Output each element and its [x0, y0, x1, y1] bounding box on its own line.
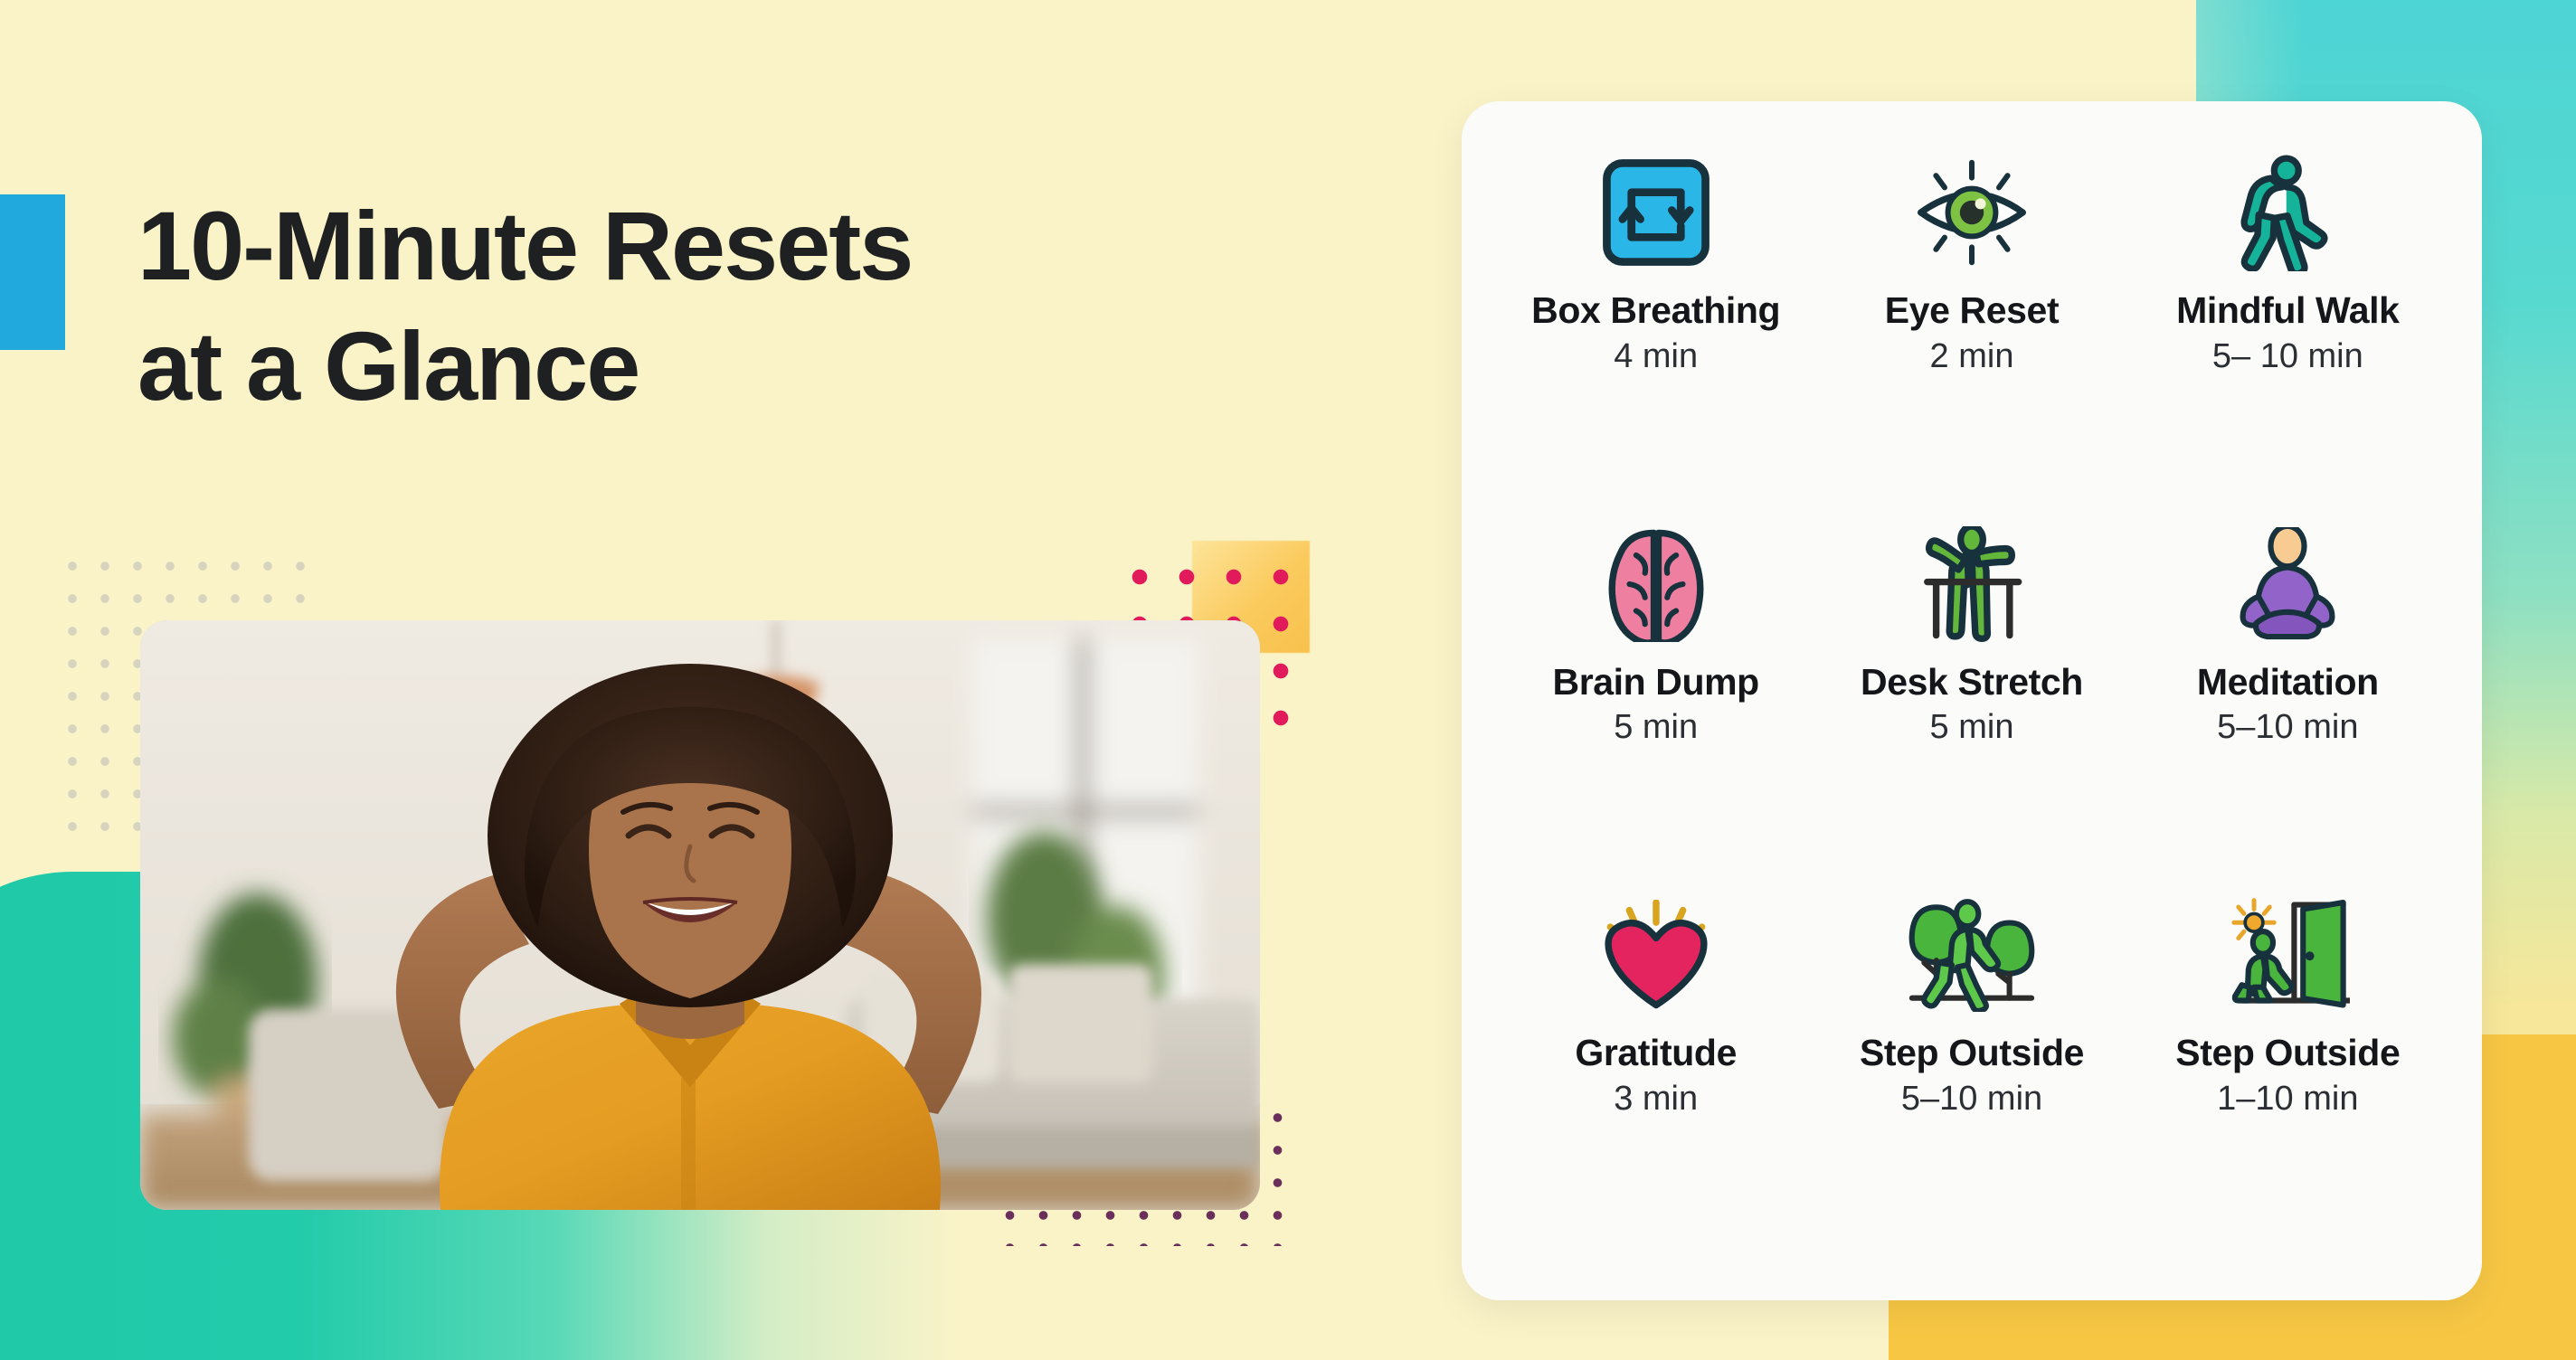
reset-label: Step Outside	[2175, 1032, 2400, 1074]
reset-item-step-outside-door[interactable]: Step Outside 1–10 min	[2130, 892, 2446, 1264]
reset-item-eye-reset[interactable]: Eye Reset 2 min	[1814, 150, 2129, 522]
reset-duration: 5–10 min	[1901, 1080, 2042, 1119]
reset-item-step-outside-trees[interactable]: Step Outside 5–10 min	[1814, 892, 2129, 1264]
desk-stretch-icon	[1821, 522, 2122, 647]
reset-label: Gratitude	[1575, 1032, 1737, 1074]
meditation-icon	[2137, 522, 2439, 647]
reset-label: Step Outside	[1860, 1032, 2084, 1074]
reset-label: Box Breathing	[1531, 289, 1780, 332]
reset-duration: 1–10 min	[2217, 1080, 2358, 1119]
reset-duration: 2 min	[1930, 337, 2014, 376]
page-title-line-2: at a Glance	[137, 307, 1422, 427]
reset-grid: Box Breathing 4 min	[1498, 150, 2446, 1264]
page-title-line-1: 10-Minute Resets	[137, 191, 912, 300]
reset-item-mindful-walk[interactable]: Mindful Walk 5– 10 min	[2130, 150, 2446, 522]
reset-item-gratitude[interactable]: Gratitude 3 min	[1498, 892, 1814, 1264]
reset-label: Desk Stretch	[1861, 661, 2083, 704]
eye-reset-icon	[1821, 150, 2122, 275]
step-outside-door-icon	[2137, 892, 2439, 1017]
reset-label: Meditation	[2197, 661, 2379, 704]
reset-item-desk-stretch[interactable]: Desk Stretch 5 min	[1814, 522, 2129, 893]
blue-accent-tab	[0, 194, 65, 350]
reset-duration: 5– 10 min	[2212, 337, 2363, 376]
reset-label: Eye Reset	[1885, 289, 2059, 332]
reset-duration: 4 min	[1614, 337, 1698, 376]
reset-card: Box Breathing 4 min	[1462, 101, 2482, 1300]
reset-label: Mindful Walk	[2176, 289, 2400, 332]
reset-item-box-breathing[interactable]: Box Breathing 4 min	[1498, 150, 1814, 522]
brain-dump-icon	[1505, 522, 1806, 647]
page-title: 10-Minute Resets at a Glance	[137, 186, 1422, 427]
reset-duration: 5–10 min	[2217, 708, 2358, 747]
reset-item-meditation[interactable]: Meditation 5–10 min	[2130, 522, 2446, 893]
reset-label: Brain Dump	[1552, 661, 1758, 704]
reset-item-brain-dump[interactable]: Brain Dump 5 min	[1498, 522, 1814, 893]
reset-duration: 5 min	[1614, 708, 1698, 747]
reset-duration: 5 min	[1930, 708, 2014, 747]
mindful-walk-icon	[2137, 150, 2439, 275]
gratitude-heart-icon	[1505, 892, 1806, 1017]
step-outside-trees-icon	[1821, 892, 2122, 1017]
hero-photo-illustration	[140, 620, 1260, 1210]
reset-duration: 3 min	[1614, 1080, 1698, 1119]
box-breathing-icon	[1505, 150, 1806, 275]
hero-photo	[140, 620, 1260, 1210]
